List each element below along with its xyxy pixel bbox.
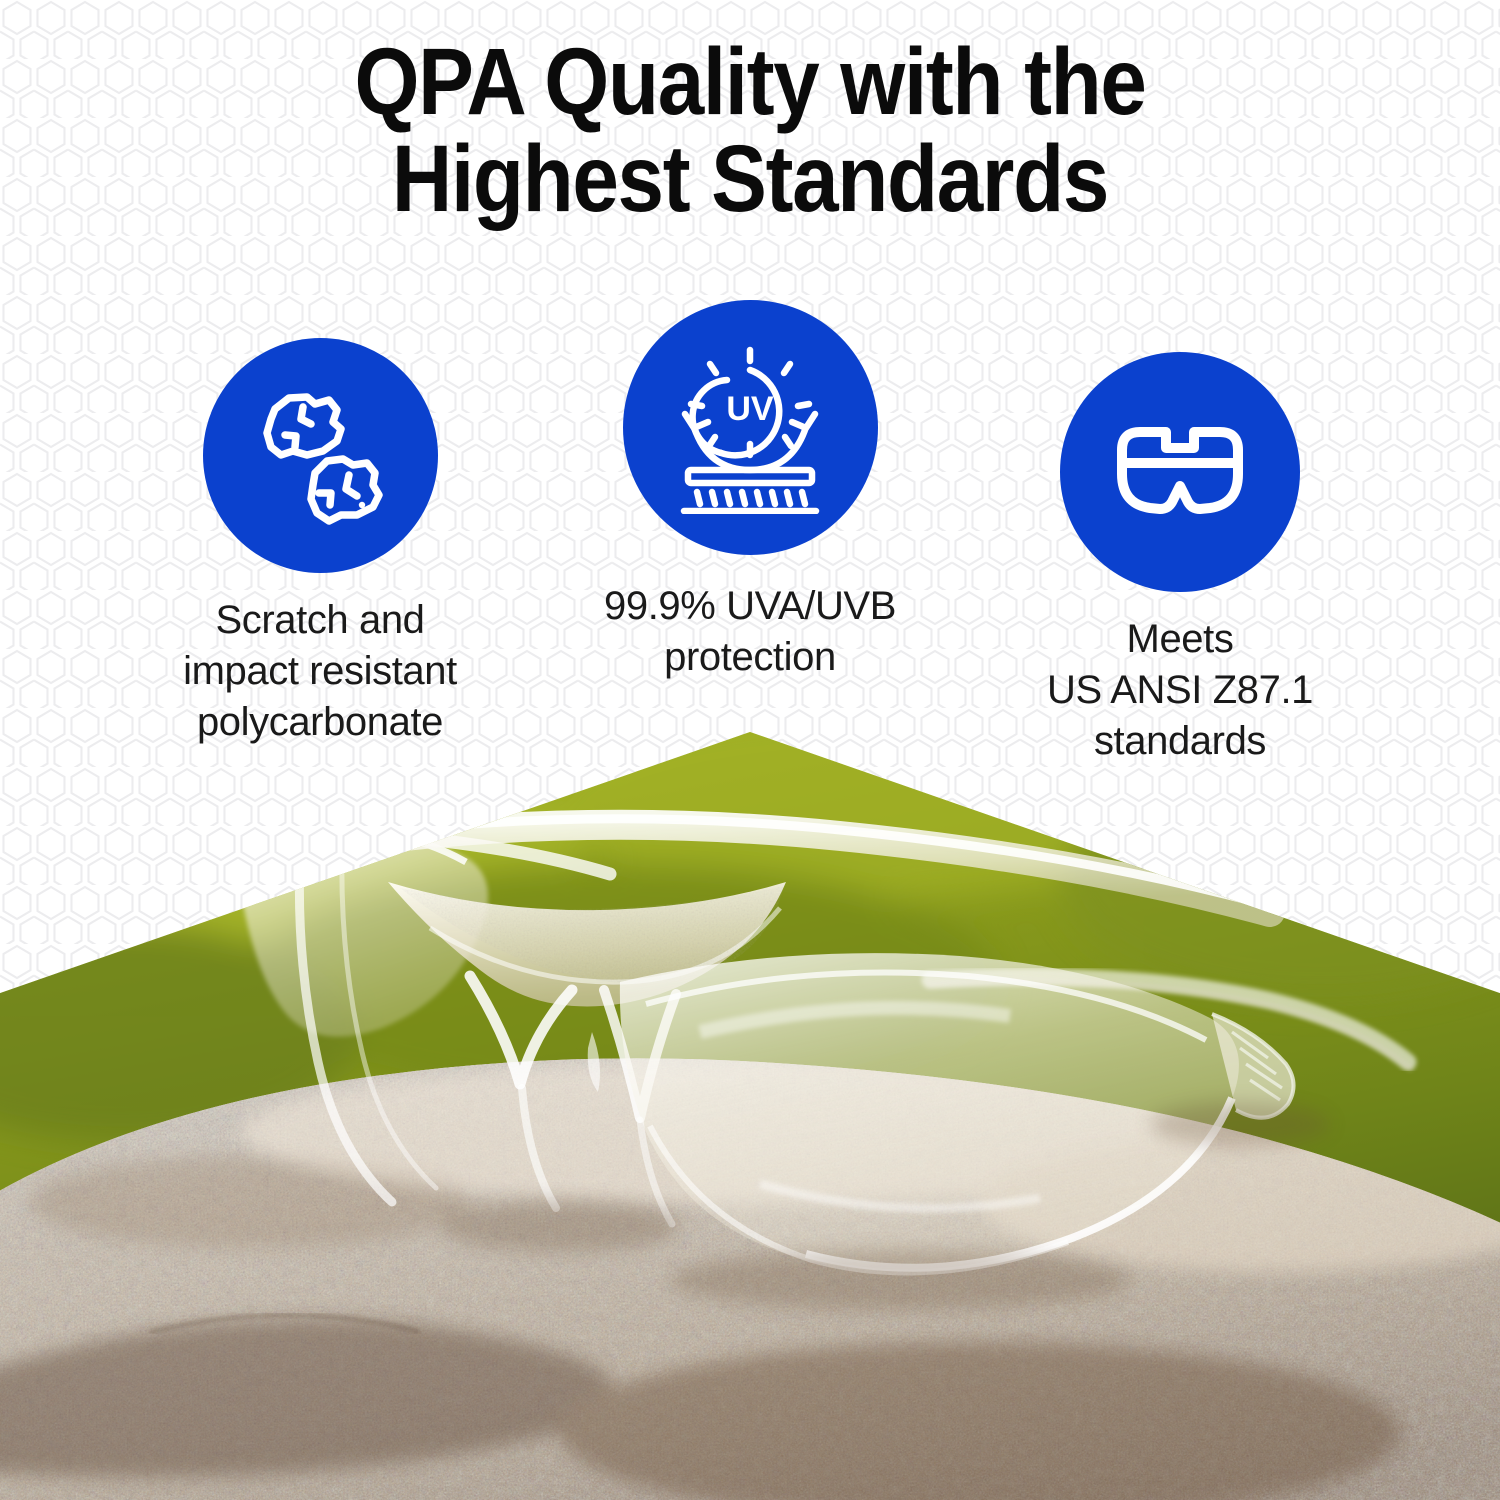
page-title-line-2: Highest Standards <box>90 131 1410 228</box>
feature-icon-badge-scratch <box>203 338 438 573</box>
uv-icon-label: UV <box>726 390 774 428</box>
feature-list: Scratch and impact resistant polycarbona… <box>0 300 1500 768</box>
safety-goggles-icon <box>1100 392 1260 552</box>
infographic-page: QPA Quality with the Highest Standards <box>0 0 1500 1500</box>
uv-sun-shield-icon: UV <box>664 342 836 514</box>
feature-icon-badge-uv: UV <box>623 300 878 555</box>
feature-item-scratch-impact: Scratch and impact resistant polycarbona… <box>105 300 535 749</box>
feature-caption-uv: 99.9% UVA/UVB protection <box>604 581 896 683</box>
page-title: QPA Quality with the Highest Standards <box>0 34 1500 228</box>
product-photo <box>0 732 1500 1500</box>
feature-caption-ansi: Meets US ANSI Z87.1 standards <box>1047 614 1313 768</box>
scratch-rocks-icon <box>245 381 395 531</box>
feature-caption-scratch: Scratch and impact resistant polycarbona… <box>183 595 457 749</box>
feature-icon-badge-goggles <box>1060 352 1300 592</box>
feature-item-ansi-standards: Meets US ANSI Z87.1 standards <box>965 300 1395 768</box>
page-title-line-1: QPA Quality with the <box>90 34 1410 131</box>
feature-item-uv-protection: UV <box>535 300 965 683</box>
